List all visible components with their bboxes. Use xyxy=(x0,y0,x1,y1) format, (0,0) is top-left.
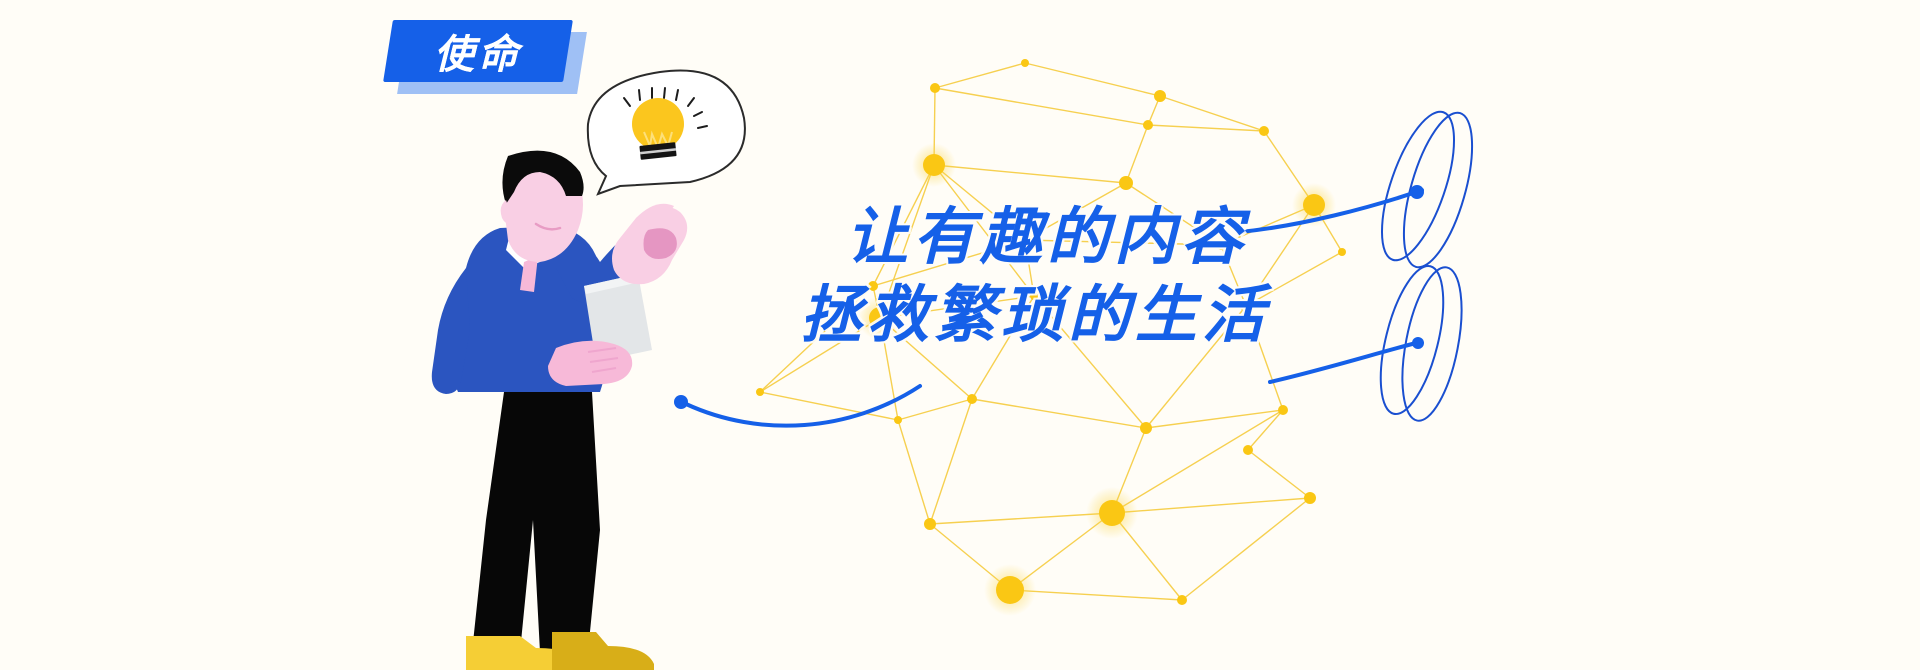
headline-line-2: 拯救繁琐的生活 xyxy=(800,276,1520,354)
page-title: 让有趣的内容 拯救繁琐的生活 xyxy=(800,198,1520,354)
bulb-glass xyxy=(632,98,684,150)
banner-canvas: 使命 让有趣的内容 拯救繁琐的生活 xyxy=(0,0,1920,670)
headline-line-1: 让有趣的内容 xyxy=(846,198,1520,276)
